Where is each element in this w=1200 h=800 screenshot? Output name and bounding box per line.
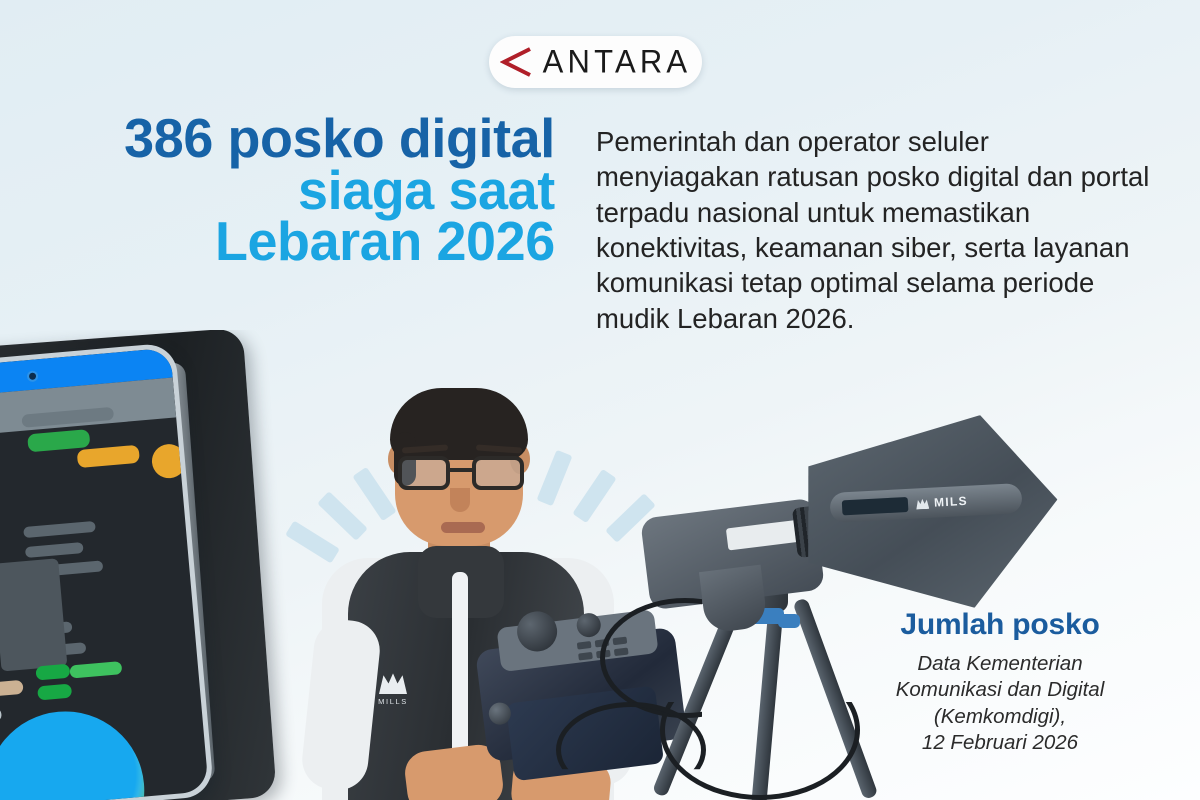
status-pill-green xyxy=(37,684,72,701)
antara-logo: ANTARA xyxy=(489,36,702,88)
status-pill-tan xyxy=(0,680,24,698)
caption-lines: Data Kementerian Komunikasi dan Digital … xyxy=(840,651,1160,757)
lens-right xyxy=(472,456,524,490)
caption-line: 12 Februari 2026 xyxy=(840,730,1160,756)
headline-line-3: Lebaran 2026 xyxy=(45,216,555,268)
headline-line-1: 386 posko digital xyxy=(45,113,555,165)
status-pill-green xyxy=(27,429,90,452)
nose xyxy=(450,488,470,512)
list-row xyxy=(23,521,96,538)
infographic-canvas: ANTARA 386 posko digital siaga saat Leba… xyxy=(0,0,1200,800)
caption-line: (Kemkomdigi), xyxy=(840,704,1160,730)
mils-mark-icon xyxy=(916,497,930,510)
status-pill-orange xyxy=(77,445,140,468)
antenna-indicator-chip xyxy=(842,496,909,514)
antenna-label-sticker xyxy=(726,520,800,551)
caption-line: Komunikasi dan Digital xyxy=(840,677,1160,703)
lede-paragraph: Pemerintah dan operator seluler menyiaga… xyxy=(596,124,1152,336)
list-row xyxy=(25,542,84,558)
phone-screen xyxy=(0,348,209,800)
antenna-brand: MILS xyxy=(916,494,969,511)
antenna-brand-text: MILS xyxy=(934,494,969,510)
chart-block xyxy=(0,558,67,671)
status-pill-green xyxy=(69,661,122,678)
caption-title: Jumlah posko xyxy=(840,608,1160,642)
antara-wordmark: ANTARA xyxy=(543,43,692,81)
mills-mark-icon xyxy=(379,670,407,694)
tripod-clamp xyxy=(778,614,800,628)
glasses-bridge xyxy=(450,468,472,472)
headline-line-2: siaga saat xyxy=(45,165,555,217)
mouth xyxy=(441,522,485,533)
status-pill-green xyxy=(35,664,70,681)
vest-brand-logo: MILLS xyxy=(372,670,414,714)
eyeglasses xyxy=(398,456,526,490)
antara-triangle-mark xyxy=(500,47,532,77)
vest-brand-text: MILLS xyxy=(372,697,414,706)
dashboard-gauge xyxy=(0,705,151,800)
page-title: 386 posko digital siaga saat Lebaran 202… xyxy=(40,113,560,268)
status-dot-orange xyxy=(151,443,188,480)
list-row xyxy=(0,708,2,727)
lens-left xyxy=(398,456,450,490)
caption-line: Data Kementerian xyxy=(840,651,1160,677)
data-source-caption: Jumlah posko Data Kementerian Komunikasi… xyxy=(840,608,1160,757)
